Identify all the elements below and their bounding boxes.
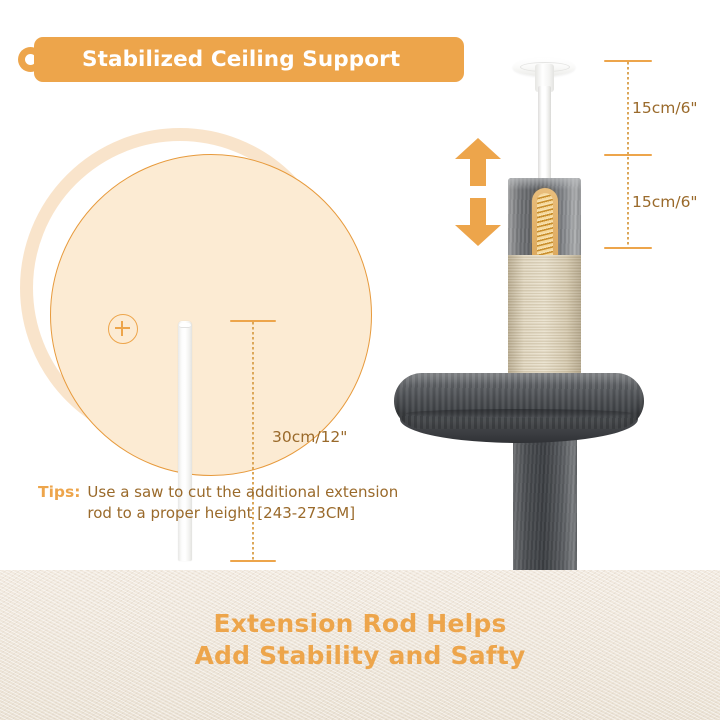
tips-section: Tips: Use a saw to cut the additional ex…	[38, 482, 438, 524]
platform-seam	[406, 409, 632, 418]
dimension-cap-bottom	[230, 560, 276, 562]
height-adjust-arrows	[455, 138, 501, 246]
rod-dimension-label: 30cm/12"	[272, 428, 347, 446]
tips-label: Tips:	[38, 482, 87, 503]
platform-front	[394, 373, 644, 429]
page-title: Stabilized Ceiling Support	[34, 47, 400, 72]
footer-caption: Extension Rod Helps Add Stability and Sa…	[0, 608, 720, 672]
rod-dimension-line	[230, 320, 276, 562]
dimension-dotted-line	[252, 322, 254, 560]
infographic-stage: Stabilized Ceiling Support 30cm/12" Tips…	[0, 0, 720, 720]
post-dimension-scale	[604, 60, 652, 250]
extension-rod	[178, 321, 192, 561]
plus-circle-icon	[108, 314, 138, 344]
footer-caption-line1: Extension Rod Helps	[0, 608, 720, 640]
extension-rod-diagram: 30cm/12"	[0, 118, 400, 488]
footer-caption-line2: Add Stability and Safty	[0, 640, 720, 672]
tips-body: Use a saw to cut the additional extensio…	[87, 482, 425, 524]
arrow-up-icon	[455, 138, 501, 186]
arrow-down-icon	[455, 198, 501, 246]
telescoping-rod	[538, 86, 551, 186]
scale-dotted-line	[627, 62, 629, 248]
post-dimension-label-lower: 15cm/6"	[632, 193, 698, 211]
post-dimension-label-upper: 15cm/6"	[632, 99, 698, 117]
padded-ring-platform	[394, 373, 644, 435]
product-image	[380, 0, 720, 600]
